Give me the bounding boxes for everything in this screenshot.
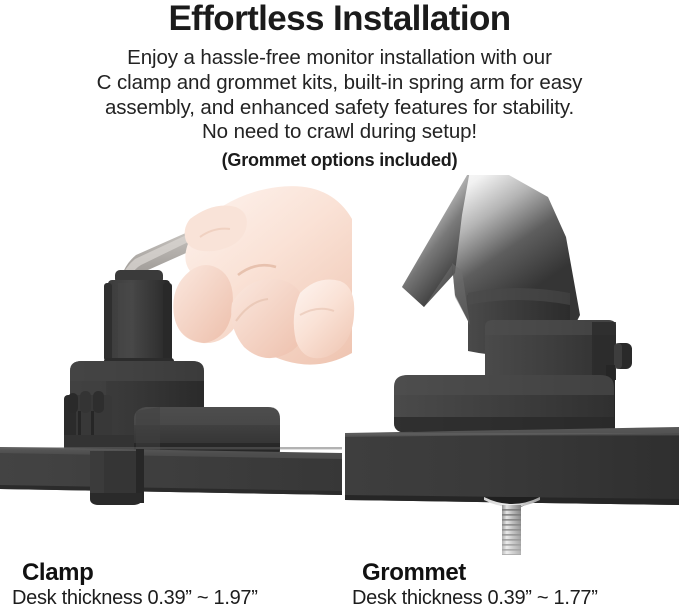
caption-grommet-title: Grommet bbox=[362, 560, 598, 586]
hand bbox=[173, 186, 354, 364]
description-line-4: No need to crawl during setup! bbox=[0, 120, 679, 145]
caption-grommet-subtitle: Desk thickness 0.39” ~ 1.77” bbox=[352, 586, 598, 610]
grommet-base bbox=[394, 375, 614, 437]
description-line-3: assembly, and enhanced safety features f… bbox=[0, 96, 679, 121]
installation-illustration bbox=[0, 175, 679, 555]
clamp-post bbox=[104, 270, 174, 368]
caption-clamp-subtitle: Desk thickness 0.39” ~ 1.97” bbox=[12, 586, 258, 610]
grommet-scene bbox=[345, 175, 679, 555]
desk-panel-right bbox=[345, 427, 679, 505]
description-line-1: Enjoy a hassle-free monitor installation… bbox=[0, 46, 679, 71]
desk-panel-left bbox=[0, 447, 342, 495]
clamp-scene bbox=[0, 186, 354, 505]
clamp-jaw bbox=[90, 449, 144, 505]
product-infographic: Effortless Installation Enjoy a hassle-f… bbox=[0, 0, 679, 611]
description-line-2: C clamp and grommet kits, built-in sprin… bbox=[0, 71, 679, 96]
caption-clamp-title: Clamp bbox=[22, 560, 258, 586]
caption-grommet: Grommet Desk thickness 0.39” ~ 1.77” bbox=[352, 560, 598, 610]
grommet-body bbox=[485, 320, 616, 380]
grommet-bolt bbox=[484, 497, 540, 555]
grommet-options-note: (Grommet options included) bbox=[0, 149, 679, 171]
caption-clamp: Clamp Desk thickness 0.39” ~ 1.97” bbox=[12, 560, 258, 610]
description-paragraph: Enjoy a hassle-free monitor installation… bbox=[0, 46, 679, 145]
page-title: Effortless Installation bbox=[0, 0, 679, 39]
